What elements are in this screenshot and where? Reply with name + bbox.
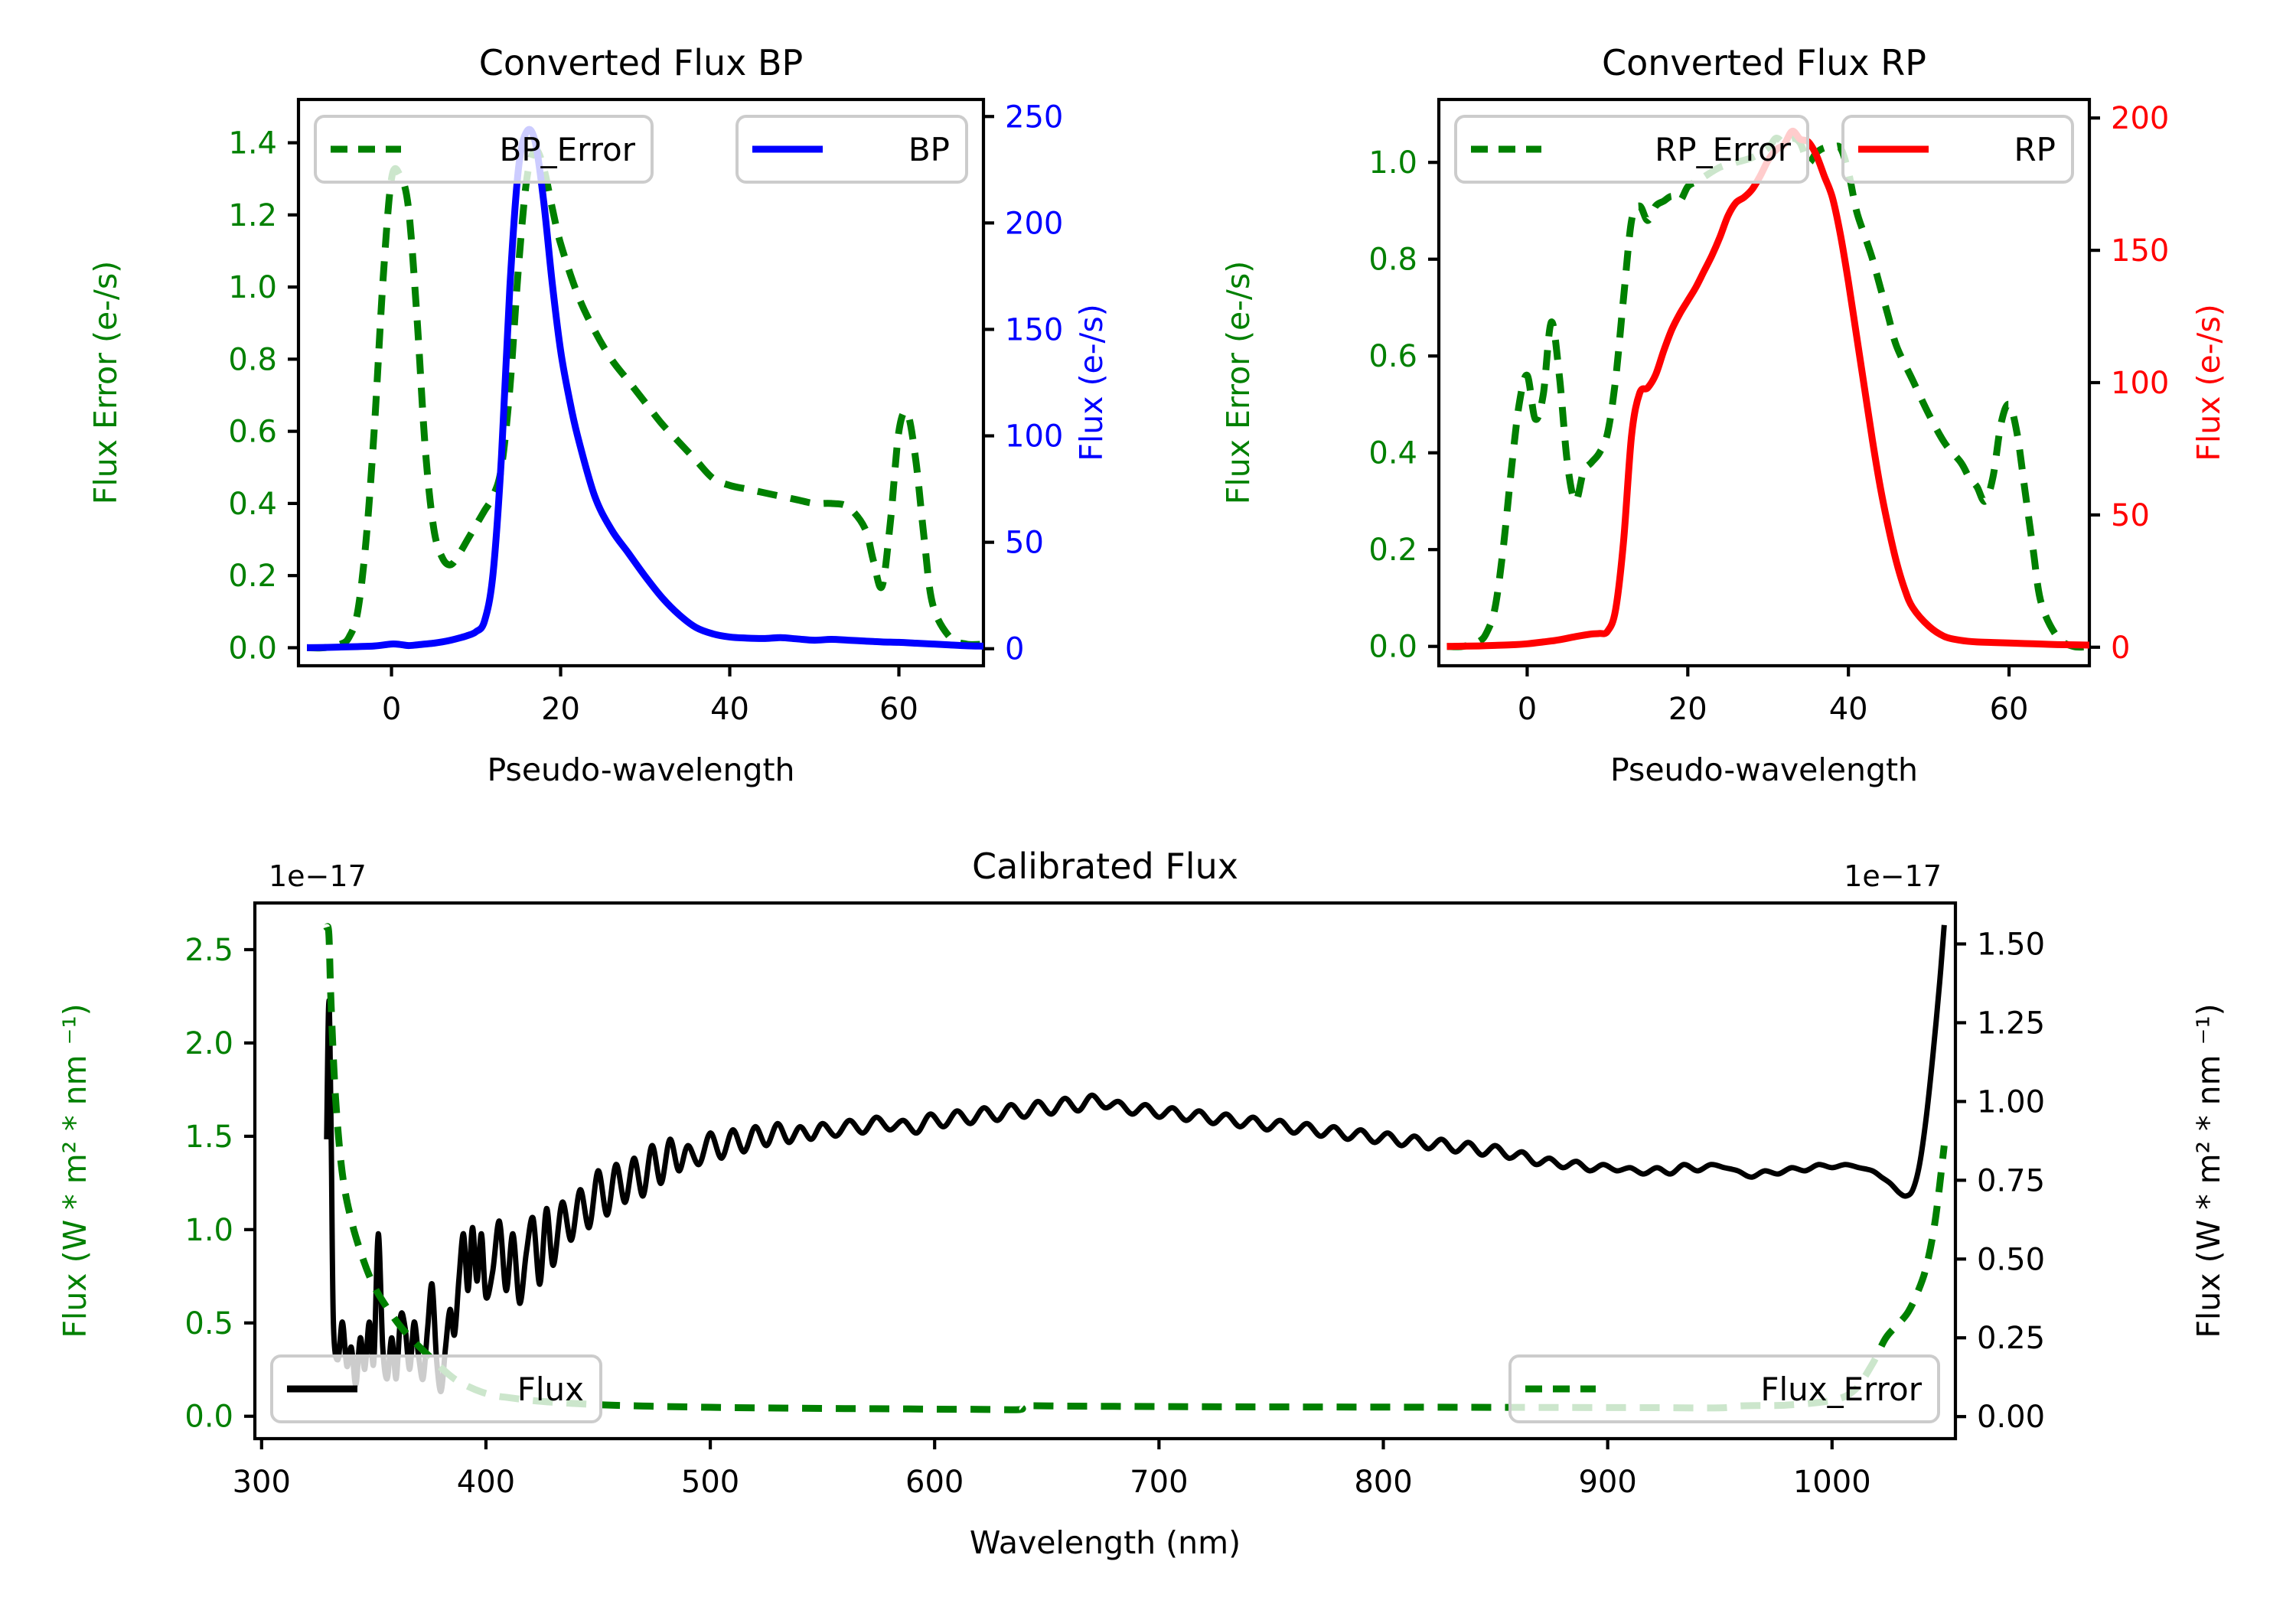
y-tick-label-right: 1.50 xyxy=(1977,927,2045,963)
y-tick-label-left: 2.0 xyxy=(184,1026,233,1061)
x-tick-label: 800 xyxy=(1354,1465,1412,1500)
y-tick-label-right: 0 xyxy=(1005,632,1024,667)
y-tick-label-left: 0.0 xyxy=(1368,630,1417,665)
legend-label: RP_Error xyxy=(1655,131,1792,168)
x-tick-label: 300 xyxy=(233,1465,291,1500)
y-tick-label-left: 0.2 xyxy=(228,559,277,594)
matplotlib-figure: Converted Flux BP0204060Pseudo-wavelengt… xyxy=(0,0,2296,1607)
x-tick-label: 60 xyxy=(879,692,918,727)
y-tick-label-left: 1.2 xyxy=(228,198,277,233)
x-tick-label: 700 xyxy=(1130,1465,1188,1500)
y-tick-label-right: 0.25 xyxy=(1977,1321,2045,1356)
y-tick-label-left: 1.0 xyxy=(228,270,277,305)
legend-flux[interactable]: Flux xyxy=(272,1356,601,1422)
series-line-bp xyxy=(307,129,983,647)
legend-flux_error[interactable]: Flux_Error xyxy=(1510,1356,1939,1422)
y-tick-label-left: 0.4 xyxy=(1368,436,1417,471)
x-tick-label: 40 xyxy=(1829,692,1868,727)
legend-rp_error[interactable]: RP_Error xyxy=(1456,116,1808,182)
y-tick-label-left: 0.5 xyxy=(184,1306,233,1341)
y-tick-label-left: 0.4 xyxy=(228,487,277,522)
x-tick-label: 40 xyxy=(710,692,749,727)
panel-converted-flux-rp: Converted Flux RP0204060Pseudo-wavelengt… xyxy=(1133,0,2296,834)
y-tick-label-left: 0.8 xyxy=(228,342,277,377)
y-axis-label-right: Flux (W * m² * nm ⁻¹) xyxy=(2190,1003,2227,1338)
legend-bp_error[interactable]: BP_Error xyxy=(315,116,652,182)
x-tick-label: 60 xyxy=(1990,692,2029,727)
legend-label: Flux xyxy=(517,1371,584,1408)
y-tick-label-left: 1.4 xyxy=(228,126,277,161)
y-tick-label-left: 0.8 xyxy=(1368,243,1417,278)
y-tick-label-right: 200 xyxy=(2111,101,2169,136)
x-tick-label: 20 xyxy=(1668,692,1707,727)
y-tick-label-left: 0.6 xyxy=(228,415,277,450)
y-tick-label-right: 150 xyxy=(2111,233,2169,269)
y-axis-offset-right: 1e−17 xyxy=(1844,859,1942,893)
x-tick-label: 900 xyxy=(1578,1465,1636,1500)
series-line-flux xyxy=(327,925,1945,1392)
y-axis-label-right: Flux (e-/s) xyxy=(2190,304,2227,461)
panel-title: Converted Flux RP xyxy=(1602,42,1926,83)
y-axis-label-left: Flux (W * m² * nm ⁻¹) xyxy=(57,1003,93,1338)
y-tick-label-right: 50 xyxy=(2111,498,2150,533)
panel-calibrated-flux: Calibrated Flux3004005006007008009001000… xyxy=(0,834,2296,1607)
y-tick-label-left: 1.0 xyxy=(1368,145,1417,181)
series-line-rp_error xyxy=(1446,138,2089,647)
x-axis-label: Pseudo-wavelength xyxy=(1610,751,1918,788)
data-layer xyxy=(307,129,983,648)
y-tick-label-left: 0.0 xyxy=(184,1400,233,1435)
x-tick-label: 600 xyxy=(905,1465,964,1500)
y-axis-label-left: Flux Error (e-/s) xyxy=(1220,261,1257,504)
x-tick-label: 400 xyxy=(457,1465,515,1500)
y-axis-offset-left: 1e−17 xyxy=(269,859,367,893)
y-tick-label-left: 0.6 xyxy=(1368,339,1417,374)
y-tick-label-left: 2.5 xyxy=(184,933,233,968)
y-tick-label-right: 50 xyxy=(1005,526,1044,561)
y-tick-label-right: 0 xyxy=(2111,631,2130,666)
legend-rp[interactable]: RP xyxy=(1843,116,2073,182)
y-tick-label-right: 100 xyxy=(2111,366,2169,401)
y-axis-label-right: Flux (e-/s) xyxy=(1073,304,1110,461)
legend-label: BP_Error xyxy=(499,131,635,168)
x-tick-label: 1000 xyxy=(1793,1465,1871,1500)
y-axis-label-left: Flux Error (e-/s) xyxy=(87,261,124,504)
data-layer xyxy=(1446,131,2089,647)
y-tick-label-right: 250 xyxy=(1005,99,1063,135)
x-tick-label: 0 xyxy=(382,692,401,727)
panel-converted-flux-bp: Converted Flux BP0204060Pseudo-wavelengt… xyxy=(0,0,1133,834)
y-tick-label-right: 200 xyxy=(1005,206,1063,241)
y-tick-label-right: 0.75 xyxy=(1977,1163,2045,1198)
y-tick-label-left: 1.0 xyxy=(184,1213,233,1248)
y-tick-label-right: 1.25 xyxy=(1977,1006,2045,1041)
x-tick-label: 0 xyxy=(1518,692,1537,727)
legend-label: BP xyxy=(908,131,950,168)
legend-label: Flux_Error xyxy=(1760,1371,1922,1408)
y-tick-label-right: 1.00 xyxy=(1977,1084,2045,1120)
data-layer xyxy=(327,925,1945,1410)
y-tick-label-right: 100 xyxy=(1005,419,1063,455)
axes-frame xyxy=(1439,99,2089,666)
legend-label: RP xyxy=(2014,131,2056,168)
panel-title: Converted Flux BP xyxy=(479,42,804,83)
y-tick-label-right: 0.50 xyxy=(1977,1242,2045,1277)
x-tick-label: 20 xyxy=(541,692,580,727)
x-axis-label: Wavelength (nm) xyxy=(970,1524,1241,1561)
panel-title: Calibrated Flux xyxy=(972,846,1238,887)
legend-bp[interactable]: BP xyxy=(737,116,967,182)
y-tick-label-left: 1.5 xyxy=(184,1120,233,1155)
y-tick-label-right: 0.00 xyxy=(1977,1400,2045,1435)
x-tick-label: 500 xyxy=(681,1465,739,1500)
y-tick-label-left: 0.2 xyxy=(1368,533,1417,568)
y-tick-label-left: 0.0 xyxy=(228,631,277,666)
y-tick-label-right: 150 xyxy=(1005,312,1063,347)
x-axis-label: Pseudo-wavelength xyxy=(487,751,794,788)
